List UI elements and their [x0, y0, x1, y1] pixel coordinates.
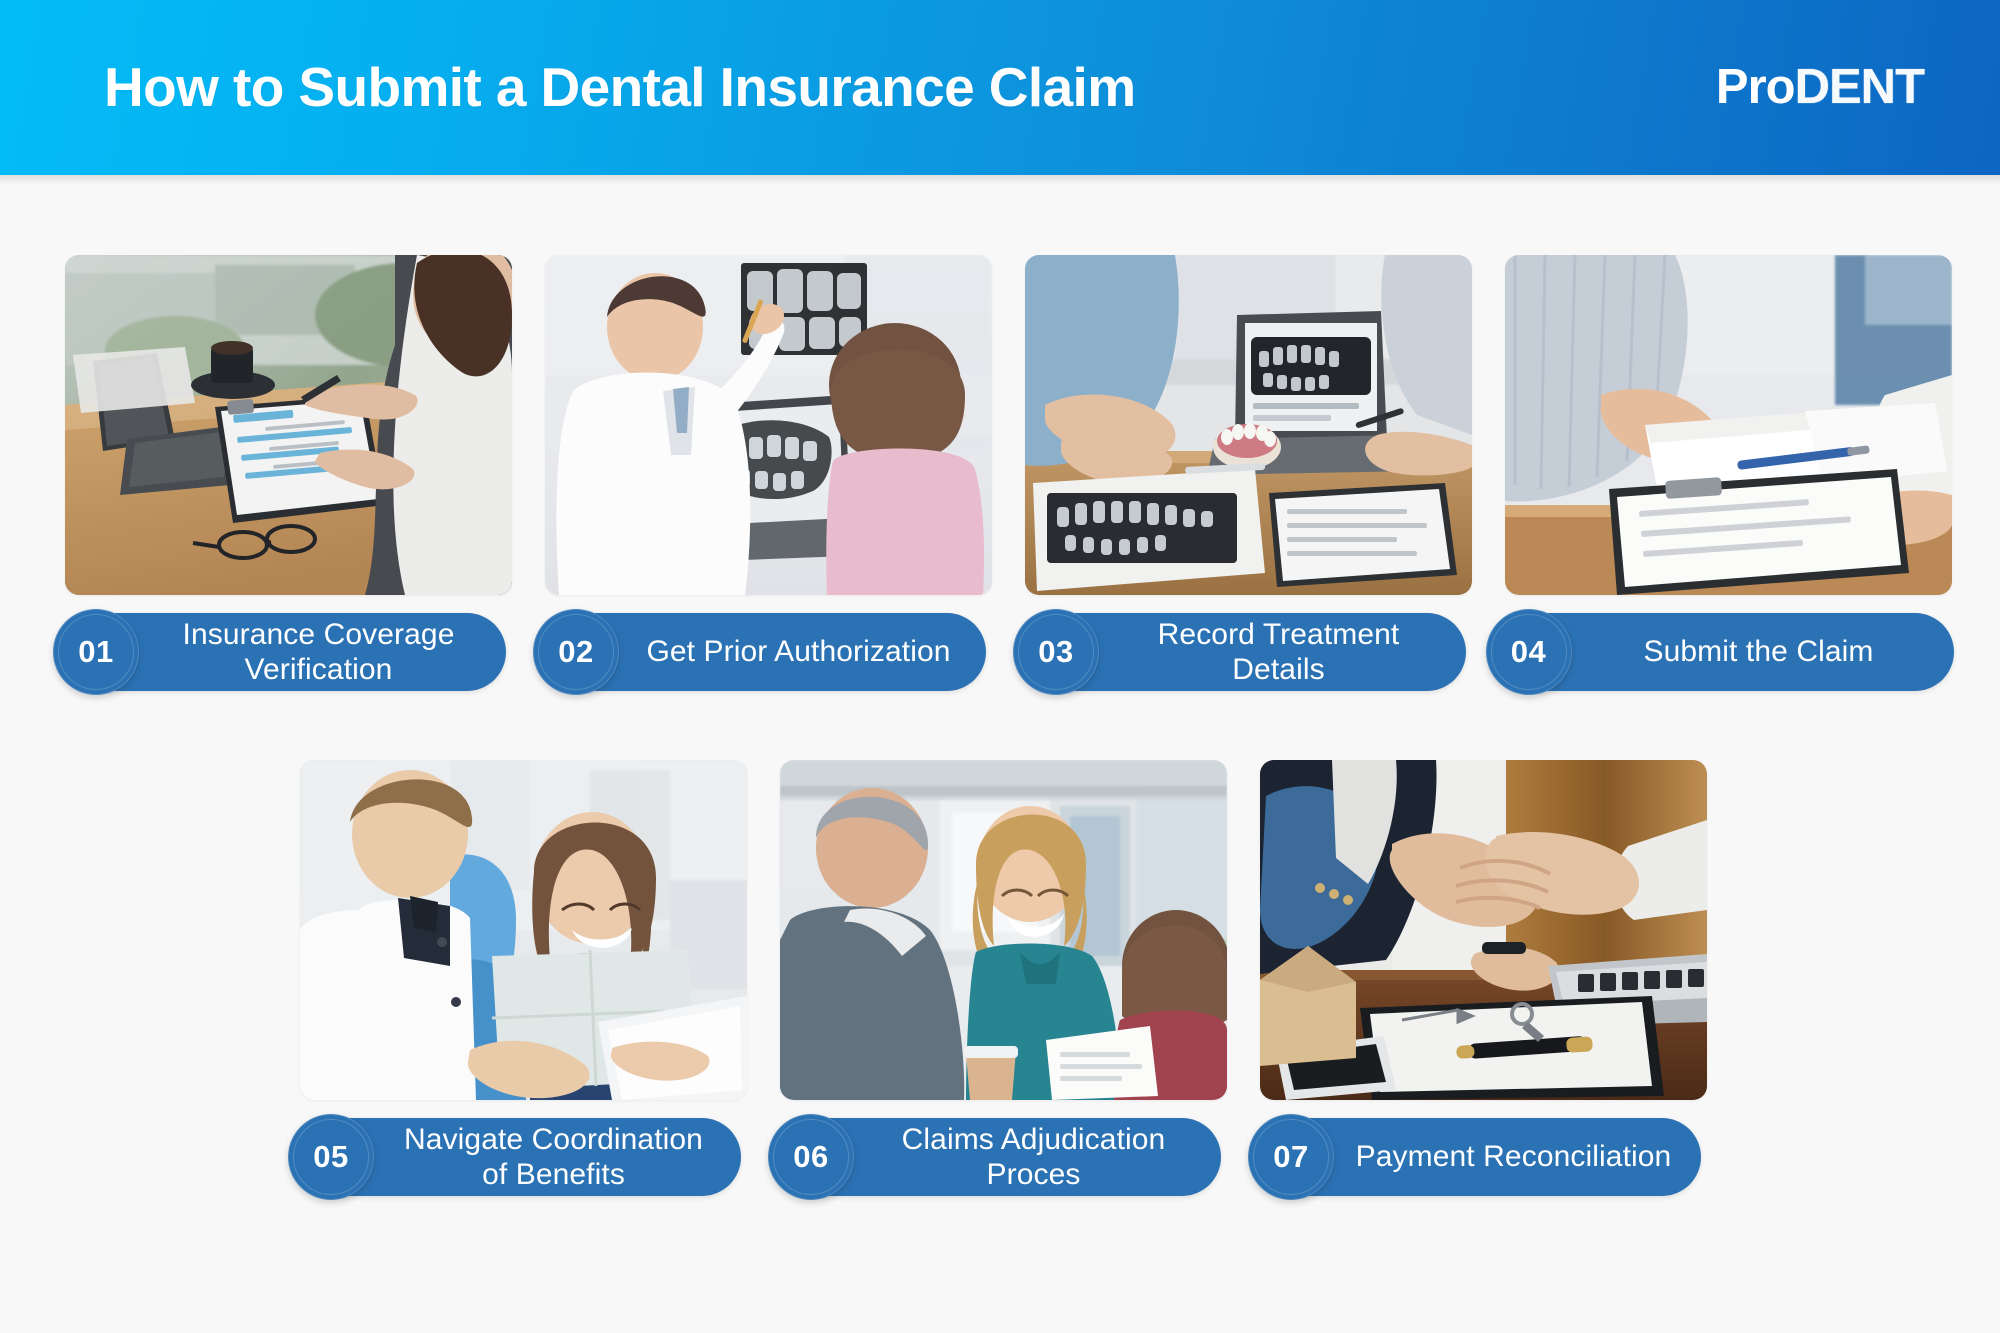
step-label-06: Claims Adjudication Proces [868, 1122, 1205, 1192]
step-number-badge-01: 01 [53, 609, 139, 695]
step-card-07[interactable]: 07 Payment Reconciliation [1260, 760, 1707, 1196]
step-number-badge-02: 02 [533, 609, 619, 695]
step-card-05[interactable]: 05 Navigate Coordination of Benefits [300, 760, 747, 1196]
step-number-badge-03: 03 [1013, 609, 1099, 695]
step-card-02[interactable]: 02 Get Prior Authorization [545, 255, 992, 691]
step-card-03[interactable]: 03 Record Treatment Details [1025, 255, 1472, 691]
step-number-badge-04: 04 [1486, 609, 1572, 695]
navigate-coordination-of-benefits-photo [300, 760, 747, 1100]
record-treatment-details-photo [1025, 255, 1472, 595]
submit-the-claim-photo [1505, 255, 1952, 595]
step-pill-03[interactable]: 03 Record Treatment Details [1031, 613, 1466, 691]
step-label-04: Submit the Claim [1586, 634, 1938, 669]
step-label-02: Get Prior Authorization [633, 634, 970, 669]
step-number-badge-05: 05 [288, 1114, 374, 1200]
step-number-badge-07: 07 [1248, 1114, 1334, 1200]
page-header: How to Submit a Dental Insurance Claim P… [0, 0, 2000, 175]
header-shadow [0, 175, 2000, 185]
step-label-03: Record Treatment Details [1113, 617, 1450, 687]
step-card-06[interactable]: 06 Claims Adjudication Proces [780, 760, 1227, 1196]
steps-row-top: 01 Insurance Coverage Verification [0, 255, 2000, 691]
logo-dent-text: DENT [1795, 63, 1924, 112]
step-pill-02[interactable]: 02 Get Prior Authorization [551, 613, 986, 691]
step-pill-06[interactable]: 06 Claims Adjudication Proces [786, 1118, 1221, 1196]
step-card-01[interactable]: 01 Insurance Coverage Verification [65, 255, 512, 691]
payment-reconciliation-photo [1260, 760, 1707, 1100]
prodent-logo: ProDENT [1716, 63, 1924, 112]
logo-pro-text: Pro [1716, 63, 1795, 112]
insurance-coverage-verification-photo [65, 255, 512, 595]
step-label-07: Payment Reconciliation [1348, 1139, 1685, 1174]
step-card-04[interactable]: 04 Submit the Claim [1505, 255, 1952, 691]
step-number-badge-06: 06 [768, 1114, 854, 1200]
step-pill-04[interactable]: 04 Submit the Claim [1504, 613, 1954, 691]
step-label-05: Navigate Coordination of Benefits [388, 1122, 725, 1192]
step-label-01: Insurance Coverage Verification [153, 617, 490, 687]
get-prior-authorization-photo [545, 255, 992, 595]
step-pill-05[interactable]: 05 Navigate Coordination of Benefits [306, 1118, 741, 1196]
step-pill-01[interactable]: 01 Insurance Coverage Verification [71, 613, 506, 691]
steps-row-bottom: 05 Navigate Coordination of Benefits [0, 760, 2000, 1196]
step-pill-07[interactable]: 07 Payment Reconciliation [1266, 1118, 1701, 1196]
page-title: How to Submit a Dental Insurance Claim [104, 59, 1136, 117]
claims-adjudication-process-photo [780, 760, 1227, 1100]
